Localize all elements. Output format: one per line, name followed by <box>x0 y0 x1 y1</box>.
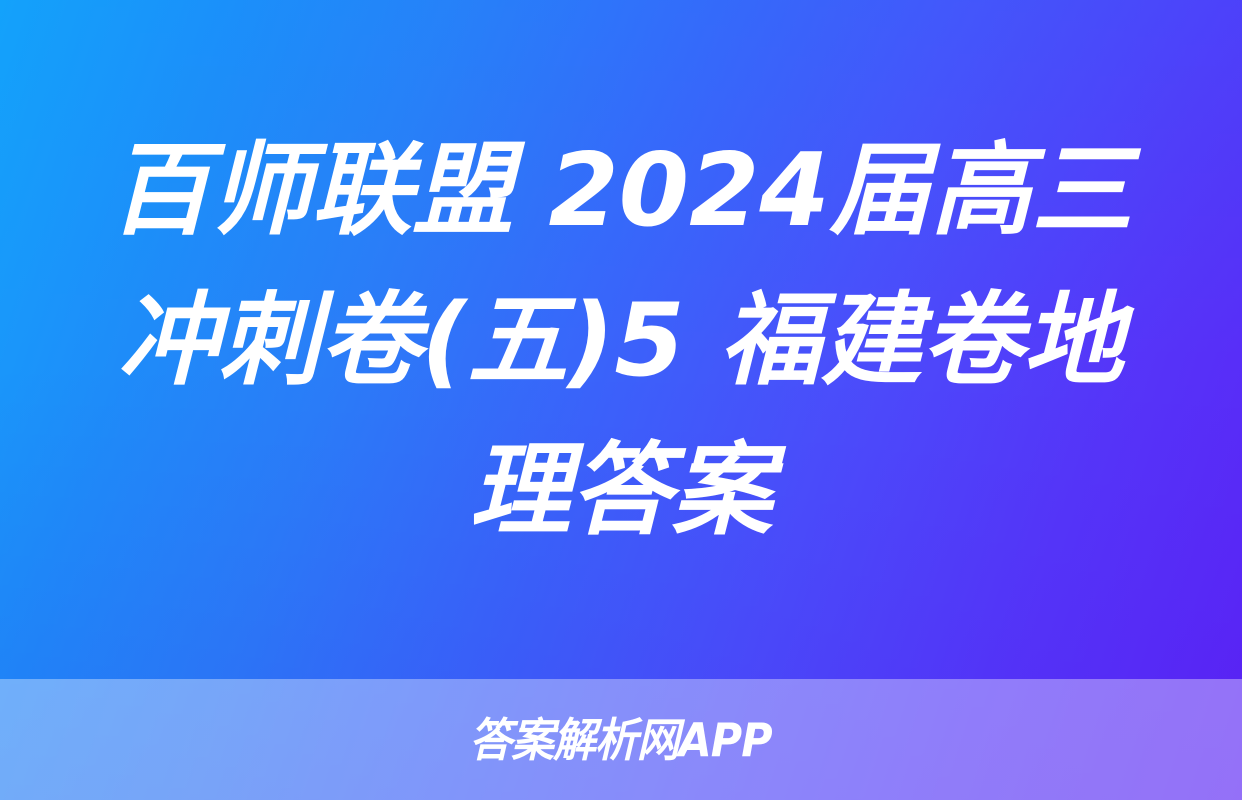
title-area: 百师联盟 2024届高三冲刺卷(五)5 福建卷地理答案 <box>0 0 1242 679</box>
page-title: 百师联盟 2024届高三冲刺卷(五)5 福建卷地理答案 <box>74 115 1168 565</box>
app-brand-banner[interactable]: 答案解析网APP <box>0 679 1242 800</box>
app-brand-label: 答案解析网APP <box>470 717 772 763</box>
answer-key-cover-card: 百师联盟 2024届高三冲刺卷(五)5 福建卷地理答案 答案解析网APP <box>0 0 1242 800</box>
